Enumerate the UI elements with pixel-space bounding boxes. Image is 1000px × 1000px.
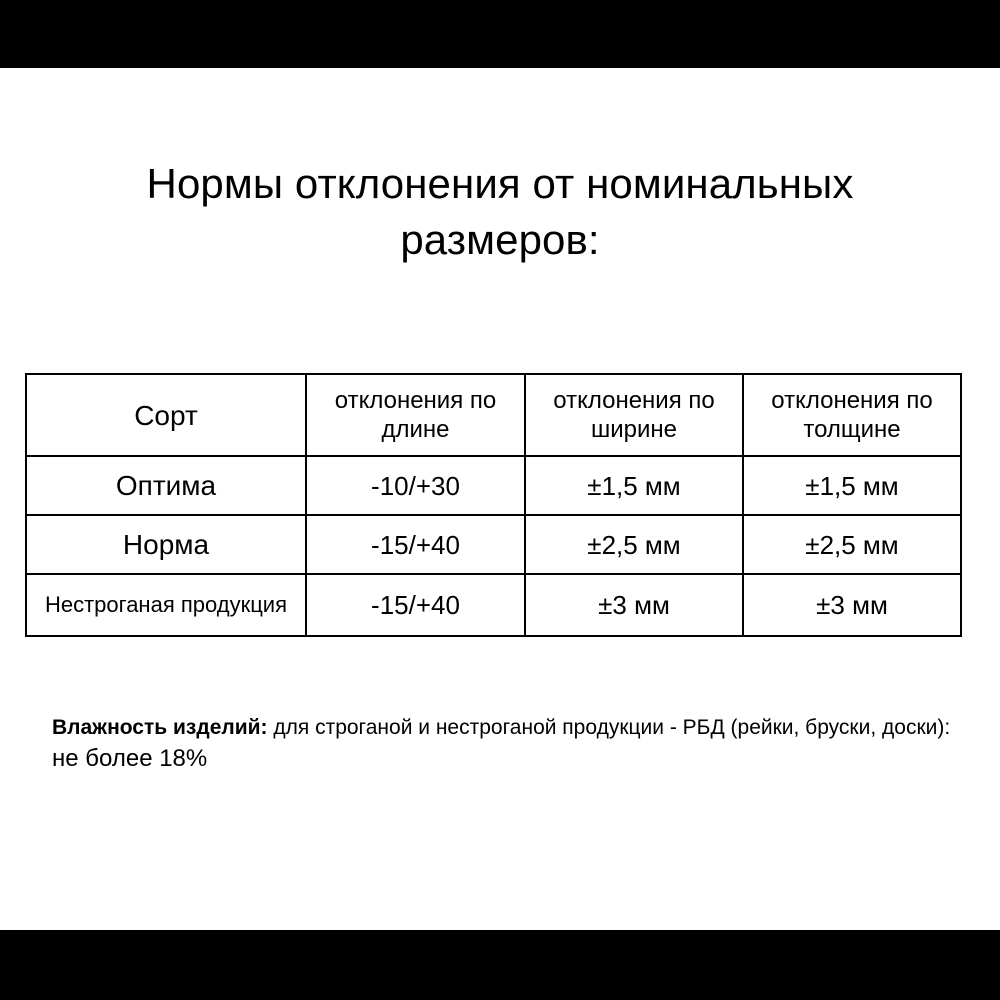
column-header-length-line-2: длине — [381, 416, 449, 443]
deviation-norms-table: Сорт отклонения по длине отклонения по ш… — [25, 373, 962, 637]
cell-width: ±3 мм — [525, 574, 743, 636]
page-title-line-2: размеров: — [50, 212, 950, 268]
cell-thickness: ±3 мм — [743, 574, 961, 636]
slide-canvas: Нормы отклонения от номинальных размеров… — [0, 0, 1000, 1000]
cell-thickness: ±2,5 мм — [743, 515, 961, 574]
column-header-length-line-1: отклонения по — [335, 387, 496, 414]
column-header-thickness: отклонения по толщине — [743, 374, 961, 456]
cell-length: -10/+30 — [306, 456, 525, 515]
table-row: Оптима -10/+30 ±1,5 мм ±1,5 мм — [26, 456, 961, 515]
cell-length: -15/+40 — [306, 574, 525, 636]
cell-width: ±2,5 мм — [525, 515, 743, 574]
cell-length: -15/+40 — [306, 515, 525, 574]
table-body: Оптима -10/+30 ±1,5 мм ±1,5 мм Норма -15… — [26, 456, 961, 636]
moisture-note: Влажность изделий: для строганой и нестр… — [52, 713, 952, 775]
table-row: Норма -15/+40 ±2,5 мм ±2,5 мм — [26, 515, 961, 574]
page-title: Нормы отклонения от номинальных размеров… — [50, 156, 950, 268]
column-header-width: отклонения по ширине — [525, 374, 743, 456]
cell-thickness: ±1,5 мм — [743, 456, 961, 515]
column-header-thickness-line-2: толщине — [803, 416, 900, 443]
column-header-width-line-1: отклонения по — [553, 387, 714, 414]
cell-grade: Нестроганая продукция — [26, 574, 306, 636]
letterbox-top-bar — [0, 0, 1000, 68]
letterbox-bottom-bar — [0, 930, 1000, 1000]
moisture-note-text: для строганой и нестроганой продукции - … — [268, 716, 951, 739]
page-title-line-1: Нормы отклонения от номинальных — [50, 156, 950, 212]
cell-grade: Норма — [26, 515, 306, 574]
cell-grade: Оптима — [26, 456, 306, 515]
column-header-length: отклонения по длине — [306, 374, 525, 456]
column-header-thickness-line-1: отклонения по — [771, 387, 932, 414]
column-header-width-line-2: ширине — [591, 416, 677, 443]
table-header-row: Сорт отклонения по длине отклонения по ш… — [26, 374, 961, 456]
table-header: Сорт отклонения по длине отклонения по ш… — [26, 374, 961, 456]
moisture-note-line-1: Влажность изделий: для строганой и нестр… — [52, 713, 952, 743]
moisture-note-line-2: не более 18% — [52, 743, 952, 775]
column-header-grade: Сорт — [26, 374, 306, 456]
cell-width: ±1,5 мм — [525, 456, 743, 515]
table-row: Нестроганая продукция -15/+40 ±3 мм ±3 м… — [26, 574, 961, 636]
content-sheet: Нормы отклонения от номинальных размеров… — [0, 68, 1000, 930]
moisture-note-label: Влажность изделий: — [52, 716, 268, 739]
